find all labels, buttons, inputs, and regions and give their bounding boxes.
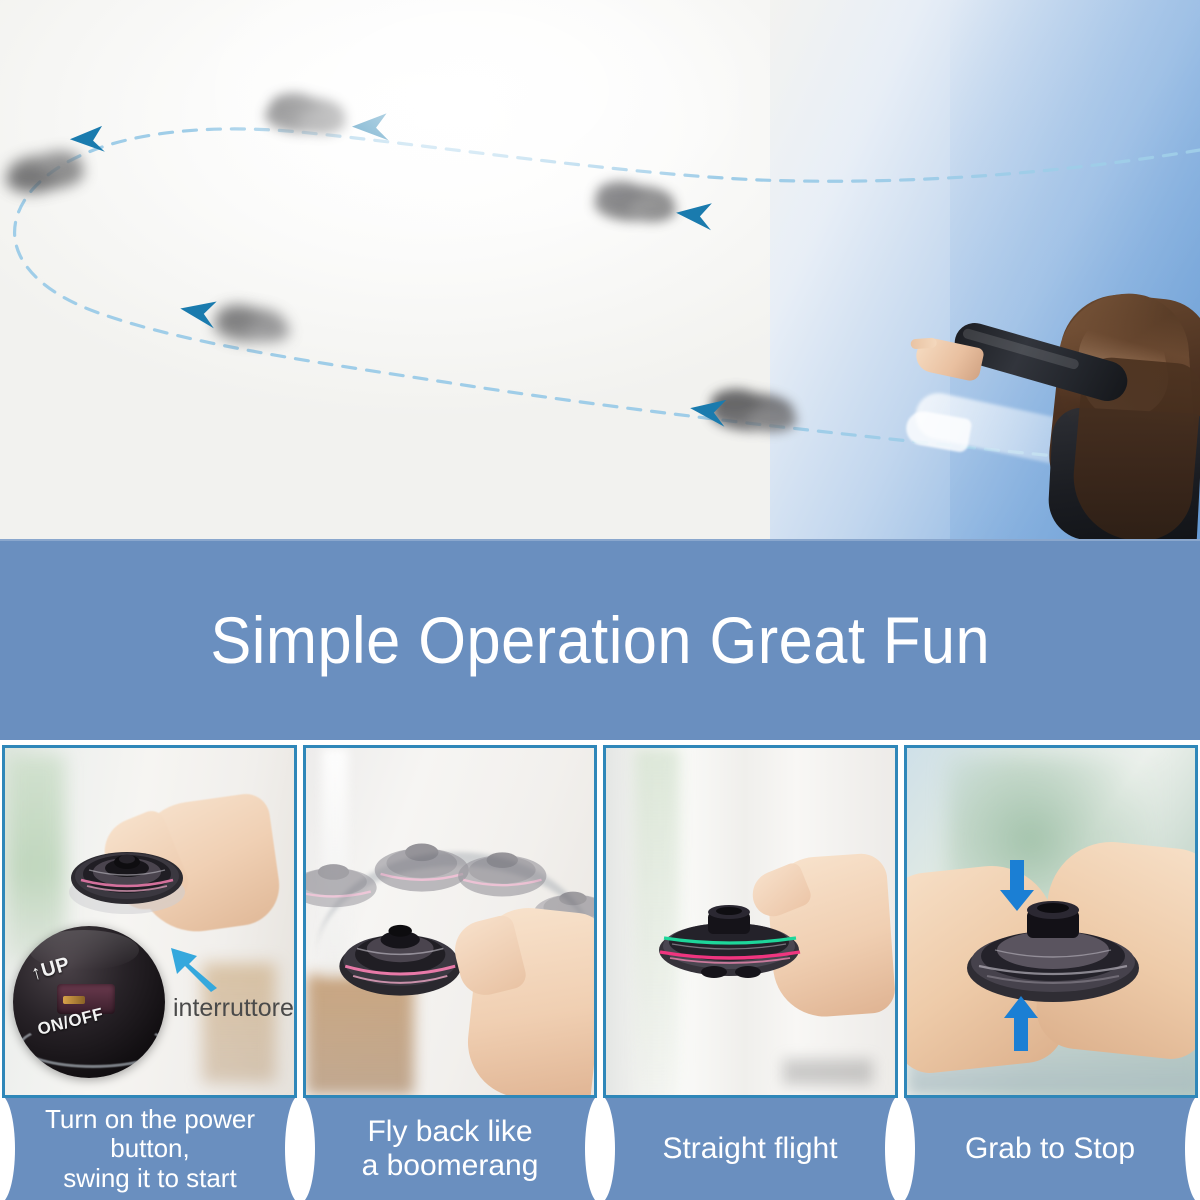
- panel-boomerang[interactable]: [303, 745, 598, 1098]
- feature-panel-row: ↑UP ON/OFF interruttore: [0, 745, 1200, 1098]
- caption-2-line-2: a boomerang: [362, 1149, 539, 1183]
- orb-ghost-2: [374, 843, 468, 891]
- flying-orb-grabbed: [965, 894, 1141, 1006]
- caption-row: Turn on the power button, swing it to st…: [0, 1098, 1200, 1200]
- arrow-up-icon: [1003, 996, 1039, 1052]
- trajectory-arrowhead-1: [69, 126, 105, 154]
- caption-1-line-2: swing it to start: [16, 1164, 284, 1193]
- page-title: Simple Operation Great Fun: [210, 607, 990, 673]
- panel-power-button[interactable]: ↑UP ON/OFF interruttore: [2, 745, 297, 1098]
- trajectory-arrowhead-4: [178, 297, 217, 329]
- orb-ghost-1: [306, 864, 377, 907]
- person-photo: [900, 290, 1200, 539]
- flying-orb-side-view: [656, 894, 802, 984]
- product-infographic: Simple Operation Great Fun: [0, 0, 1200, 1200]
- caption-3-line-1: Straight flight: [662, 1132, 837, 1166]
- switch-annotation-label: interruttore: [173, 994, 294, 1023]
- trajectory-arrowhead-2: [675, 201, 713, 230]
- power-button-closeup: ↑UP ON/OFF: [13, 926, 165, 1078]
- headline-banner: Simple Operation Great Fun: [0, 539, 1200, 740]
- orb-ghost-3: [458, 852, 546, 896]
- caption-2-line-1: Fly back like: [362, 1115, 539, 1149]
- flying-orb-top-view: [67, 834, 187, 916]
- orb-motion-blur-4: [214, 305, 290, 342]
- hand-reaching: [462, 903, 597, 1098]
- hero-image: [0, 0, 1200, 539]
- caption-grab-to-stop: Grab to Stop: [900, 1098, 1200, 1200]
- orb-motion-blur-3: [594, 181, 676, 222]
- caption-straight-flight: Straight flight: [600, 1098, 900, 1200]
- panel-straight-flight[interactable]: [603, 745, 898, 1098]
- caption-1-line-1: Turn on the power button,: [16, 1105, 284, 1163]
- caption-power-button: Turn on the power button, swing it to st…: [0, 1098, 300, 1200]
- orb-motion-blur-2: [265, 93, 346, 134]
- orb-motion-blur-1: [6, 151, 84, 193]
- panel-grab-to-stop[interactable]: [904, 745, 1199, 1098]
- orb-solid: [339, 925, 461, 996]
- caption-bar: Turn on the power button, swing it to st…: [0, 1098, 1200, 1200]
- caption-4-line-1: Grab to Stop: [965, 1132, 1135, 1166]
- switch-pointer-arrow-icon: [163, 944, 219, 994]
- caption-boomerang: Fly back like a boomerang: [300, 1098, 600, 1200]
- arrow-down-icon: [999, 860, 1035, 912]
